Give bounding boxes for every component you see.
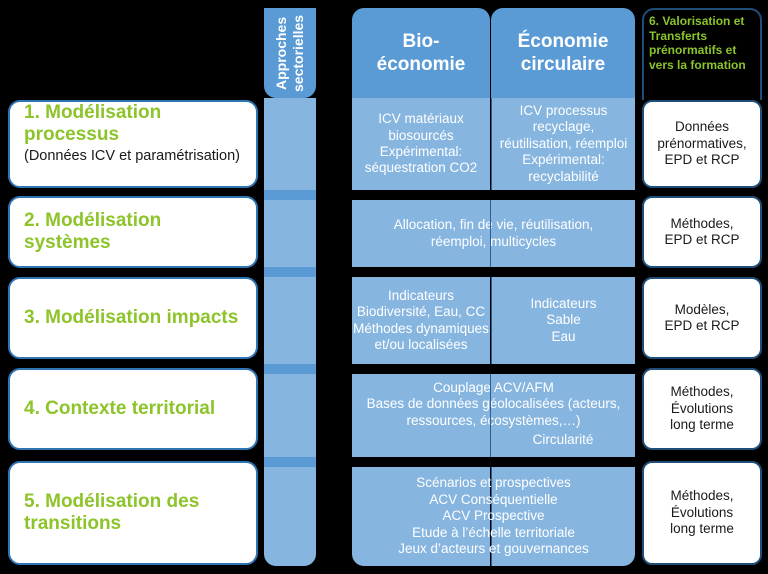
cell-r4-circulaire-extra: Circularité xyxy=(491,430,635,450)
cell-r1-bio-l3: Expérimental: xyxy=(380,144,463,160)
column-header-economie-circulaire: Économie circulaire xyxy=(491,8,635,98)
cell-r2-column-divider xyxy=(490,200,491,267)
approches-row-divider-3 xyxy=(264,364,316,374)
diagram-canvas: Approches sectorielles Bio- économie Éco… xyxy=(0,0,768,574)
cell-r4-val-l2: Évolutions xyxy=(671,401,733,417)
column-header-circulaire-line1: Économie xyxy=(518,30,609,53)
cell-r3-val-l2: EPD et RCP xyxy=(664,318,739,334)
cell-r4-span-l1: Couplage ACV/AFM xyxy=(433,380,554,396)
row-label-5-title-line1: 5. Modélisation des xyxy=(24,491,199,513)
cell-r1-bio-l2: biosourcés xyxy=(388,128,453,144)
column-header-valorisation-label: 6. Valorisation et Transferts prénormati… xyxy=(649,14,755,73)
cell-r1-circ-l2: réutilisation, réemploi xyxy=(500,136,628,152)
cell-r3-bio-l2: Biodiversité, Eau, CC xyxy=(357,304,485,320)
cell-r3-circ-l1: Indicateurs xyxy=(530,296,596,312)
cell-r5-valorisation[interactable]: Méthodes, Évolutions long terme xyxy=(642,461,762,565)
cell-r5-val-l3: long terme xyxy=(670,521,734,537)
column-header-bio-line1: Bio- xyxy=(403,30,440,53)
cell-r5-span-l3: ACV Prospective xyxy=(442,508,544,524)
column-body-approches-sectorielles xyxy=(264,98,316,566)
cell-r3-bio[interactable]: Indicateurs Biodiversité, Eau, CC Méthod… xyxy=(352,277,490,364)
column-header-approches-label: Approches sectorielles xyxy=(273,8,307,98)
row-label-3-title: 3. Modélisation impacts xyxy=(24,307,238,329)
cell-r1-valorisation[interactable]: Données prénormatives, EPD et RCP xyxy=(642,100,762,188)
cell-r1-bio[interactable]: ICV matériaux biosourcés Expérimental: s… xyxy=(352,98,490,190)
cell-r4-val-l3: long terme xyxy=(670,417,734,433)
row-label-1-subtitle: (Données ICV et paramétrisation) xyxy=(24,148,240,165)
row-label-2-title: 2. Modélisation systèmes xyxy=(24,210,248,255)
row-label-2[interactable]: 2. Modélisation systèmes xyxy=(8,196,258,268)
cell-r2-valorisation[interactable]: Méthodes, EPD et RCP xyxy=(642,196,762,268)
cell-r1-circ-l1: ICV processus recyclage, xyxy=(492,103,635,136)
row-label-4-title: 4. Contexte territorial xyxy=(24,398,215,420)
cell-r1-bio-l4: séquestration CO2 xyxy=(365,160,478,176)
cell-r3-circ-l2: Sable xyxy=(546,312,581,328)
cell-r5-span-l5: Jeux d’acteurs et gouvernances xyxy=(398,541,589,557)
cell-r1-circ-l4: recyclabilité xyxy=(528,169,599,185)
cell-r5-span-l1: Scénarios et prospectives xyxy=(416,475,571,491)
cell-r4-span-l2: Bases de données géolocalisées (acteurs, xyxy=(367,396,621,412)
column-header-circulaire-line2: circulaire xyxy=(521,53,606,76)
cell-r5-span-text: Scénarios et prospectives ACV Conséquent… xyxy=(352,467,635,566)
cell-r3-bio-l3: Méthodes dynamiques xyxy=(353,321,489,337)
cell-r1-val-l2: prénormatives, xyxy=(657,136,746,152)
column-header-approches-sectorielles: Approches sectorielles xyxy=(264,8,316,98)
approches-row-divider-1 xyxy=(264,190,316,200)
row-label-5-title-line2: transitions xyxy=(24,513,121,535)
cell-r3-circulaire[interactable]: Indicateurs Sable Eau xyxy=(491,277,635,364)
cell-r3-valorisation[interactable]: Modèles, EPD et RCP xyxy=(642,277,762,359)
row-label-1-title: 1. Modélisation processus xyxy=(24,102,248,147)
cell-r4-circularite-label: Circularité xyxy=(533,432,594,448)
cell-r2-val-l2: EPD et RCP xyxy=(664,232,739,248)
column-header-bio-line2: économie xyxy=(377,53,466,76)
cell-r1-circulaire[interactable]: ICV processus recyclage, réutilisation, … xyxy=(491,98,635,190)
column-header-bio-economie: Bio- économie xyxy=(352,8,490,98)
row-label-1[interactable]: 1. Modélisation processus (Données ICV e… xyxy=(8,100,258,188)
cell-r3-bio-l4: et/ou localisées xyxy=(374,337,467,353)
cell-r5-span-l4: Etude à l’échelle territoriale xyxy=(412,525,575,541)
row-label-5[interactable]: 5. Modélisation des transitions xyxy=(8,461,258,565)
cell-r2-span[interactable]: Allocation, fin de vie, réutilisation, r… xyxy=(352,200,635,267)
cell-r1-val-l3: EPD et RCP xyxy=(664,152,739,168)
row-label-3[interactable]: 3. Modélisation impacts xyxy=(8,277,258,359)
cell-r5-val-l1: Méthodes, xyxy=(670,488,733,504)
cell-r4-val-l1: Méthodes, xyxy=(670,384,733,400)
cell-r3-circ-l3: Eau xyxy=(551,329,575,345)
approches-row-divider-2 xyxy=(264,267,316,277)
cell-r2-span-l1: Allocation, fin de vie, réutilisation, xyxy=(394,217,594,233)
cell-r4-span-l3: ressources, écosystèmes,…) xyxy=(406,413,580,429)
cell-r1-circ-l3: Expérimental: xyxy=(522,152,605,168)
cell-r1-bio-l1: ICV matériaux xyxy=(378,111,464,127)
column-header-valorisation: 6. Valorisation et Transferts prénormati… xyxy=(642,8,762,100)
cell-r3-val-l1: Modèles, xyxy=(675,302,730,318)
cell-r3-bio-l1: Indicateurs xyxy=(388,288,454,304)
cell-r2-val-l1: Méthodes, xyxy=(670,216,733,232)
cell-r5-span-l2: ACV Conséquentielle xyxy=(429,492,557,508)
cell-r2-span-l2: réemploi, multicycles xyxy=(431,234,556,250)
cell-r1-val-l1: Données xyxy=(675,119,729,135)
approches-row-divider-4 xyxy=(264,457,316,467)
row-label-4[interactable]: 4. Contexte territorial xyxy=(8,368,258,450)
cell-r5-val-l2: Évolutions xyxy=(671,505,733,521)
cell-r4-valorisation[interactable]: Méthodes, Évolutions long terme xyxy=(642,368,762,450)
